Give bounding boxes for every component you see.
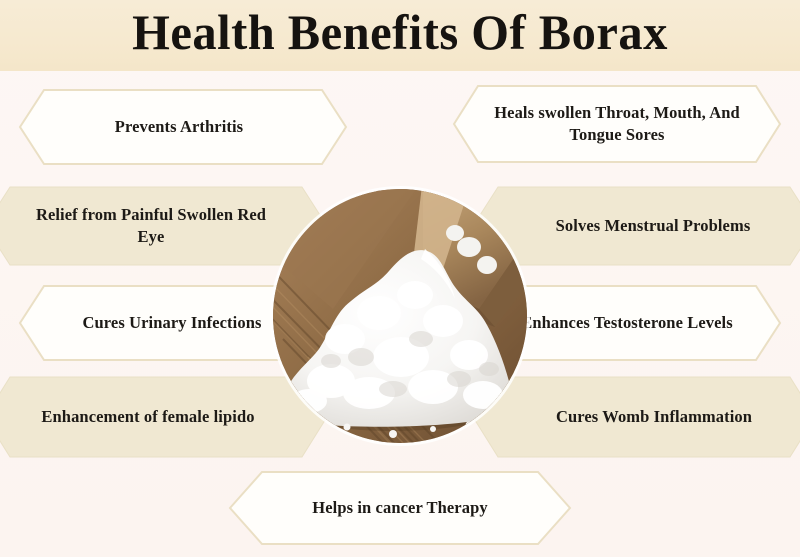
benefit-card-female-lipido[interactable]: Enhancement of female lipido	[0, 376, 328, 458]
page-title: Health Benefits Of Borax	[12, 0, 788, 66]
benefit-label: Relief from Painful Swollen Red Eye	[0, 204, 328, 248]
benefit-label: Solves Menstrual Problems	[500, 215, 789, 237]
benefit-label: Enhancement of female lipido	[0, 406, 317, 428]
benefit-card-red-eye-relief[interactable]: Relief from Painful Swollen Red Eye	[0, 186, 328, 266]
benefit-label: Helps in cancer Therapy	[276, 497, 523, 519]
benefit-card-womb-inflammation[interactable]: Cures Womb Inflammation	[472, 376, 800, 458]
infographic-canvas: Health Benefits Of Borax Prevents Arthri…	[0, 0, 800, 557]
borax-powder-illustration	[273, 189, 527, 443]
borax-powder-photo	[273, 189, 527, 443]
benefit-card-prevents-arthritis[interactable]: Prevents Arthritis	[18, 88, 348, 166]
benefit-card-menstrual-problems[interactable]: Solves Menstrual Problems	[472, 186, 800, 266]
benefit-label: Prevents Arthritis	[79, 116, 287, 138]
benefit-card-throat-mouth-tongue-sores[interactable]: Heals swollen Throat, Mouth, And Tongue …	[452, 84, 782, 164]
benefit-label: Cures Womb Inflammation	[498, 406, 790, 428]
benefit-card-cancer-therapy[interactable]: Helps in cancer Therapy	[228, 470, 572, 546]
benefit-label: Heals swollen Throat, Mouth, And Tongue …	[452, 102, 782, 146]
